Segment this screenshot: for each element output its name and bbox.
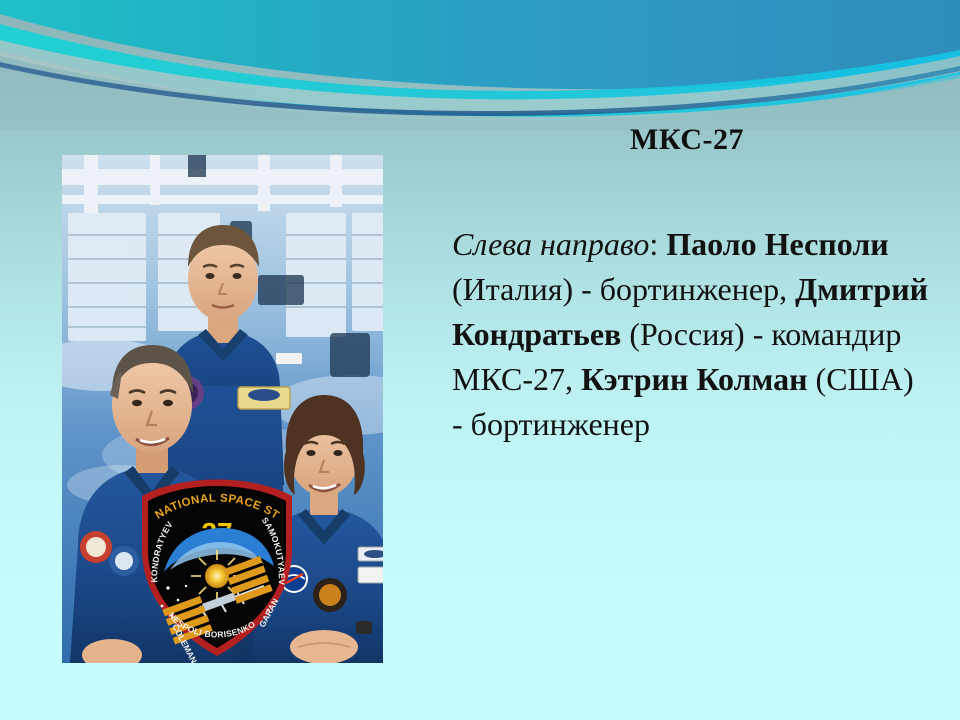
text-segment-0: Слева направо [452, 226, 649, 262]
crew-description-text: Слева направо: Паоло Несполи (Италия) - … [452, 222, 932, 447]
text-segment-1: : [649, 226, 666, 262]
text-segment-6: Кэтрин Колман [581, 361, 808, 397]
crew-photo: INTERNATIONAL SPACE STATION 27 [62, 155, 383, 663]
page-title: МКС-27 [452, 123, 922, 156]
text-segment-3: (Италия) - бортинженер, [452, 271, 795, 307]
text-segment-2: Паоло Несполи [666, 226, 889, 262]
header-wave-decoration [0, 0, 960, 130]
presentation-slide: INTERNATIONAL SPACE STATION 27 [0, 0, 960, 720]
